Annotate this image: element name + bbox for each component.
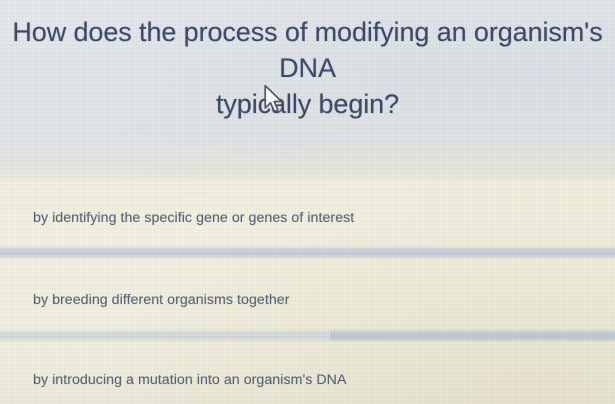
question-text: How does the process of modifying an org… [0,14,615,122]
answer-option-3[interactable]: by introducing a mutation into an organi… [33,371,593,389]
quiz-screen: How does the process of modifying an org… [0,0,615,404]
answer-option-2[interactable]: by breeding different organisms together [33,291,593,309]
answer-option-1[interactable]: by identifying the specific gene or gene… [33,209,593,227]
question-line-1: How does the process of modifying an org… [12,17,602,83]
question-line-2: typically begin? [0,86,615,122]
